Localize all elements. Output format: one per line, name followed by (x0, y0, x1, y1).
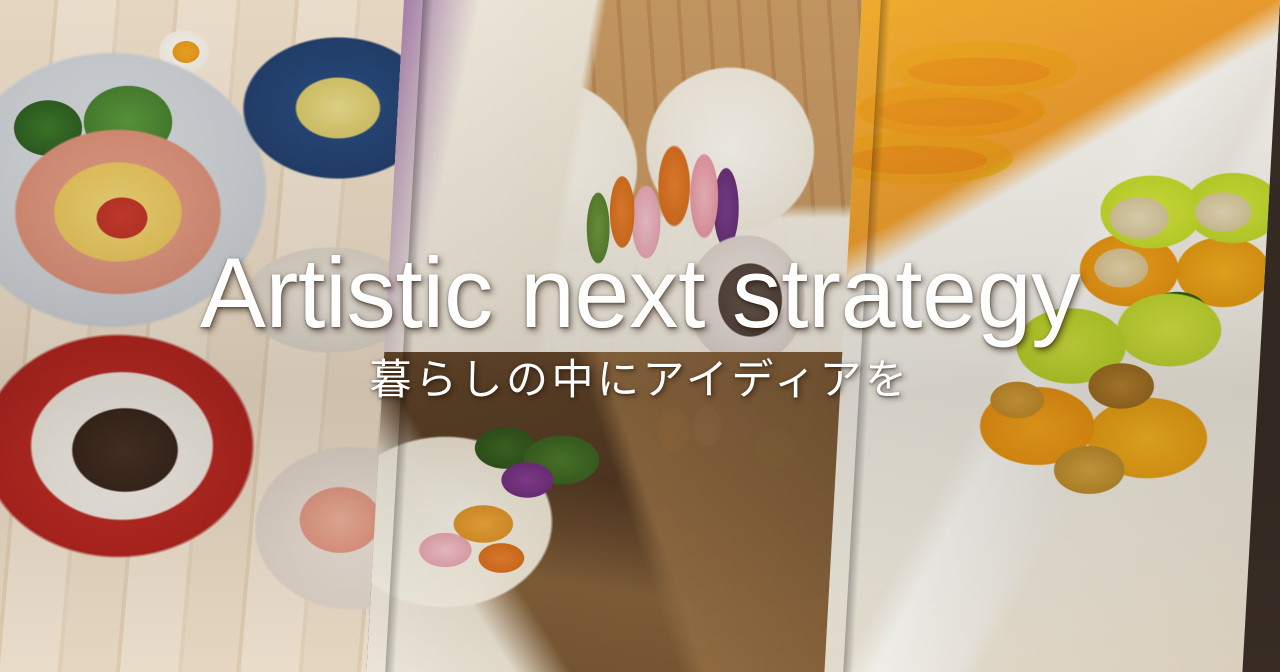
hero-subheadline: 暮らしの中にアイディアを (0, 359, 1280, 401)
hero-banner: Artistic next strategy 暮らしの中にアイディアを (0, 0, 1280, 672)
hero-copy: Artistic next strategy 暮らしの中にアイディアを (0, 243, 1280, 401)
hero-headline: Artistic next strategy (0, 243, 1280, 342)
